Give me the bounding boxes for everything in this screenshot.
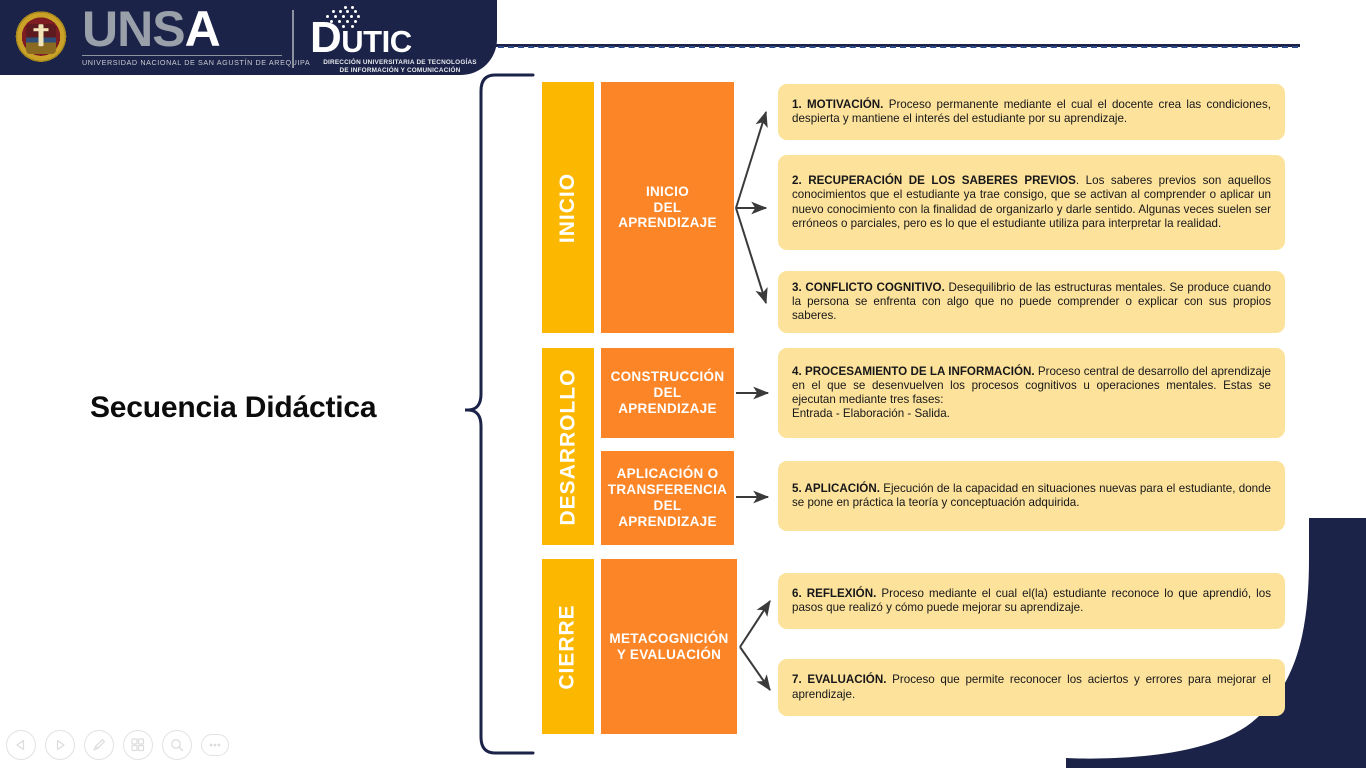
phase-line: TRANSFERENCIA <box>608 482 727 498</box>
ellipsis-icon <box>207 742 223 748</box>
phase-line: DEL <box>608 498 727 514</box>
stage-inicio-label: INICIO <box>556 172 580 242</box>
header-dashed-line <box>498 46 1298 48</box>
unsa-logo-white: A <box>185 1 220 57</box>
desc-heading: 1. MOTIVACIÓN. <box>792 98 883 111</box>
slide-grid-button[interactable] <box>123 730 153 760</box>
magnifier-icon <box>169 737 185 753</box>
phase-line: INICIO <box>618 184 717 200</box>
dutic-logo: DUTIC DIRECCIÓN UNIVERSITARIA DE TECNOLO… <box>310 4 490 74</box>
triangle-right-icon <box>54 739 66 751</box>
phase-inicio-aprendizaje: INICIO DEL APRENDIZAJE <box>601 82 734 333</box>
phase-line: APRENDIZAJE <box>608 514 727 530</box>
phase-line: CONSTRUCCIÓN <box>611 369 725 385</box>
unsa-logo: UNSA UNIVERSIDAD NACIONAL DE SAN AGUSTÍN… <box>82 4 282 74</box>
header-bar: UNSA UNIVERSIDAD NACIONAL DE SAN AGUSTÍN… <box>0 0 497 75</box>
grid-slides-icon <box>130 737 146 753</box>
didactic-sequence-diagram: INICIO DESARROLLO CIERRE INICIO DEL APRE… <box>0 0 1366 768</box>
phase-line: DEL <box>611 385 725 401</box>
desc-recuperacion-saberes-previos: 2. RECUPERACIÓN DE LOS SABERES PREVIOS. … <box>778 155 1285 250</box>
slide-toolbar <box>6 730 229 760</box>
desc-reflexion: 6. REFLEXIÓN. Proceso mediante el cual e… <box>778 573 1285 629</box>
desc-heading: 2. RECUPERACIÓN DE LOS SABERES PREVIOS <box>792 174 1076 187</box>
dutic-logo-rest: UTIC <box>341 24 411 59</box>
desc-heading: 7. EVALUACIÓN. <box>792 673 886 686</box>
desc-heading: 6. REFLEXIÓN. <box>792 587 876 600</box>
stage-cierre: CIERRE <box>542 559 594 734</box>
phase-construccion-aprendizaje: CONSTRUCCIÓN DEL APRENDIZAJE <box>601 348 734 438</box>
triangle-left-icon <box>15 739 27 751</box>
phase-line: METACOGNICIÓN <box>609 631 728 647</box>
stage-inicio: INICIO <box>542 82 594 333</box>
desc-body-secondary: Entrada - Elaboración - Salida. <box>792 407 950 421</box>
more-options-button[interactable] <box>201 734 229 756</box>
desc-aplicacion: 5. APLICACIÓN. Ejecución de la capacidad… <box>778 461 1285 531</box>
desc-procesamiento-informacion: 4. PROCESAMIENTO DE LA INFORMACIÓN. Proc… <box>778 348 1285 438</box>
phase-metacognicion-evaluacion: METACOGNICIÓN Y EVALUACIÓN <box>601 559 737 734</box>
phase-aplicacion-transferencia: APLICACIÓN O TRANSFERENCIA DEL APRENDIZA… <box>601 451 734 545</box>
desc-evaluacion: 7. EVALUACIÓN. Proceso que permite recon… <box>778 659 1285 716</box>
phase-line: APRENDIZAJE <box>618 215 717 231</box>
dutic-logo-initial: D <box>310 13 341 62</box>
previous-slide-button[interactable] <box>6 730 36 760</box>
stage-cierre-label: CIERRE <box>556 604 580 689</box>
desc-heading: 4. PROCESAMIENTO DE LA INFORMACIÓN. <box>792 365 1035 378</box>
next-slide-button[interactable] <box>45 730 75 760</box>
unsa-logo-grey: UNS <box>82 1 185 57</box>
pen-tool-button[interactable] <box>84 730 114 760</box>
phase-line: Y EVALUACIÓN <box>609 647 728 663</box>
desc-heading: 3. CONFLICTO COGNITIVO. <box>792 281 945 294</box>
stage-desarrollo-label: DESARROLLO <box>556 368 580 525</box>
unsa-crest-icon <box>7 6 75 74</box>
header-divider <box>292 10 294 68</box>
dutic-subtitle-line1: DIRECCIÓN UNIVERSITARIA DE TECNOLOGÍAS <box>310 59 490 67</box>
desc-conflicto-cognitivo: 3. CONFLICTO COGNITIVO. Desequilibrio de… <box>778 271 1285 333</box>
presentation-slide: UNSA UNIVERSIDAD NACIONAL DE SAN AGUSTÍN… <box>0 0 1366 768</box>
desc-motivacion: 1. MOTIVACIÓN. Proceso permanente median… <box>778 84 1285 140</box>
pen-icon <box>91 737 107 753</box>
phase-line: APRENDIZAJE <box>611 401 725 417</box>
dutic-subtitle-line2: DE INFORMACIÓN Y COMUNICACIÓN <box>310 67 490 75</box>
zoom-button[interactable] <box>162 730 192 760</box>
phase-line: APLICACIÓN O <box>608 466 727 482</box>
phase-line: DEL <box>618 200 717 216</box>
stage-desarrollo: DESARROLLO <box>542 348 594 545</box>
desc-heading: 5. APLICACIÓN. <box>792 482 880 495</box>
